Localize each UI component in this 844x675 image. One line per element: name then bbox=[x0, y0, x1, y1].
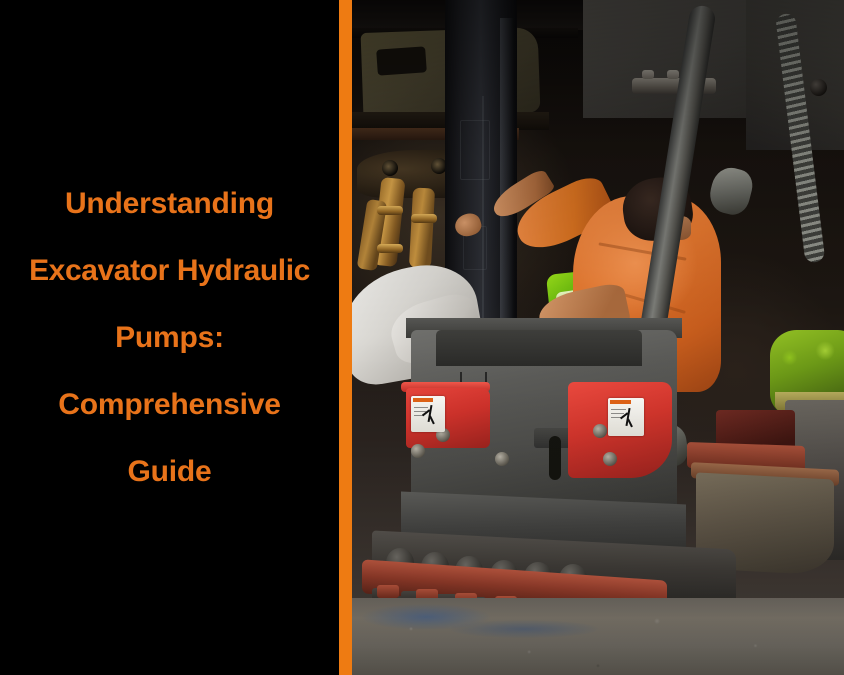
post-highlight bbox=[500, 18, 515, 338]
title-panel: Understanding Excavator Hydraulic Pumps:… bbox=[0, 0, 339, 675]
title-line-4: Comprehensive bbox=[6, 390, 333, 420]
post-access-panel bbox=[460, 120, 490, 180]
brass-collar bbox=[411, 214, 437, 223]
fitting-bore bbox=[382, 160, 398, 176]
bracket-bolt bbox=[667, 70, 679, 79]
metal-bracket-upper-right bbox=[583, 0, 750, 118]
brass-collar bbox=[377, 244, 403, 253]
orange-divider-bar bbox=[339, 0, 352, 675]
warning-sticker bbox=[608, 398, 644, 436]
title-line-5: Guide bbox=[6, 457, 333, 487]
track-link-red bbox=[377, 585, 399, 598]
machine-part-notch bbox=[376, 46, 427, 75]
warning-sticker bbox=[411, 396, 445, 432]
title-line-3: Pumps: bbox=[6, 323, 333, 353]
bracket-bolt bbox=[642, 70, 654, 79]
title-line-2: Excavator Hydraulic bbox=[6, 256, 333, 286]
banner-photo bbox=[352, 0, 844, 675]
article-banner: Understanding Excavator Hydraulic Pumps:… bbox=[0, 0, 844, 675]
floor-texture bbox=[352, 598, 844, 675]
brass-hydraulic-fitting bbox=[409, 187, 435, 268]
fitting-bore bbox=[431, 158, 447, 174]
housing-bolt bbox=[495, 452, 509, 466]
housing-slot bbox=[549, 436, 561, 480]
guard-bolt bbox=[603, 452, 617, 466]
title-line-1: Understanding bbox=[6, 189, 333, 219]
brass-collar bbox=[377, 206, 403, 215]
machine-knob bbox=[810, 79, 827, 96]
page-title: Understanding Excavator Hydraulic Pumps:… bbox=[0, 189, 339, 487]
guard-bolt bbox=[411, 444, 425, 458]
excavator-hood bbox=[436, 330, 643, 366]
guard-bolt bbox=[593, 424, 607, 438]
